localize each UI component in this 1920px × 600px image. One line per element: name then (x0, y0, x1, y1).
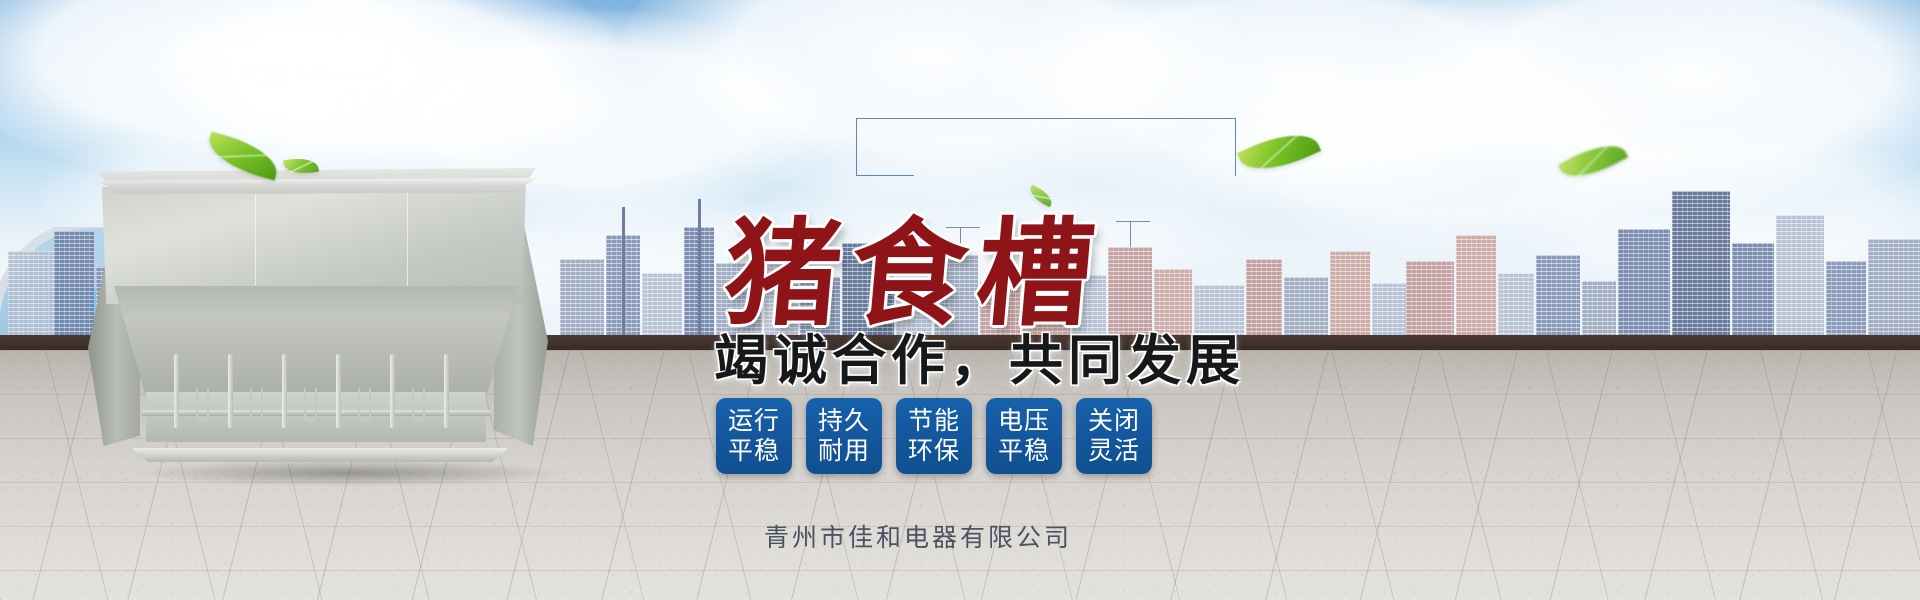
badge-line-2: 平稳 (728, 436, 780, 467)
product-image-pig-feeder-trough (80, 168, 550, 464)
trough-divider (228, 354, 233, 428)
banner-copy-block: 青州市佳和电器有限公司 猪食槽 竭诚合作，共同发展 运行 平稳 持久 耐用 节能… (700, 108, 1340, 548)
feature-badge[interactable]: 电压 平稳 (986, 398, 1062, 474)
trough-hook (196, 388, 209, 422)
promo-banner: 青州市佳和电器有限公司 猪食槽 竭诚合作，共同发展 运行 平稳 持久 耐用 节能… (0, 0, 1920, 600)
product-shadow (140, 460, 560, 486)
company-name: 青州市佳和电器有限公司 (764, 518, 1072, 554)
page-subtitle: 竭诚合作，共同发展 (714, 316, 1245, 395)
trough-divider (444, 354, 449, 428)
frame-right-line (1235, 118, 1236, 176)
badge-line-1: 关闭 (1088, 406, 1140, 437)
badge-line-1: 节能 (908, 406, 960, 437)
feature-badge[interactable]: 关闭 灵活 (1076, 398, 1152, 474)
frame-top-line (856, 118, 1236, 119)
badge-line-1: 电压 (998, 406, 1050, 437)
trough-hook (250, 388, 263, 422)
trough-divider (174, 354, 179, 428)
badge-line-2: 耐用 (818, 436, 870, 467)
feature-badge[interactable]: 持久 耐用 (806, 398, 882, 474)
trough-back-panel (102, 182, 526, 304)
feature-badge[interactable]: 运行 平稳 (716, 398, 792, 474)
frame-bottom-line (856, 175, 914, 176)
frame-left-line (856, 118, 857, 176)
company-name-frame (856, 118, 1236, 176)
trough-hook (412, 388, 425, 422)
feature-badge-list: 运行 平稳 持久 耐用 节能 环保 电压 平稳 关闭 灵活 (716, 398, 1152, 474)
badge-line-2: 环保 (908, 436, 960, 467)
trough-divider (336, 354, 341, 428)
badge-line-1: 运行 (728, 406, 780, 437)
badge-line-2: 平稳 (998, 436, 1050, 467)
trough-base-frame (124, 448, 516, 462)
feature-badge[interactable]: 节能 环保 (896, 398, 972, 474)
trough-hook (304, 388, 317, 422)
trough-divider (390, 354, 395, 428)
badge-line-2: 灵活 (1088, 436, 1140, 467)
trough-divider (282, 354, 287, 428)
trough-floor (146, 392, 486, 442)
badge-line-1: 持久 (818, 406, 870, 437)
trough-hook (358, 388, 371, 422)
